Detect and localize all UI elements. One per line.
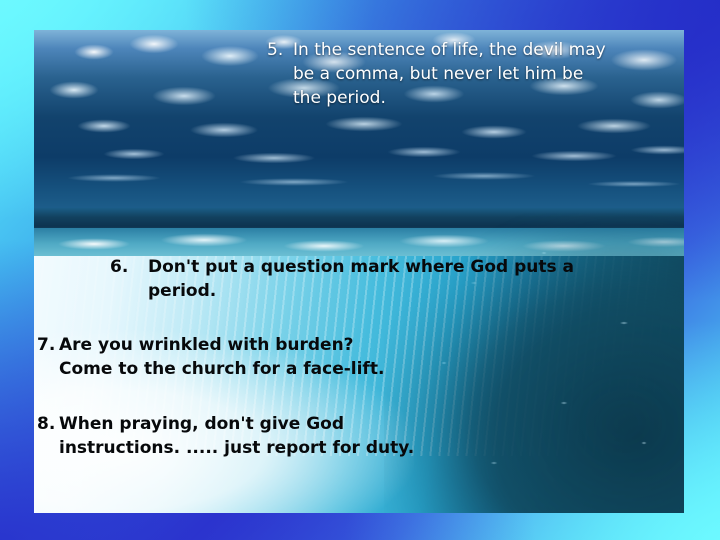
list-item-6: 6. Don't put a question mark where God p… bbox=[110, 255, 630, 303]
list-item-8-text: When praying, don't give God instruction… bbox=[59, 412, 414, 460]
list-item-6-text: Don't put a question mark where God puts… bbox=[148, 255, 574, 303]
list-item-5: 5. In the sentence of life, the devil ma… bbox=[267, 38, 671, 110]
list-item-5-text: In the sentence of life, the devil may b… bbox=[293, 38, 606, 110]
list-item-7-marker: 7. bbox=[37, 333, 59, 381]
list-item-6-marker: 6. bbox=[110, 255, 148, 303]
presentation-slide: 5. In the sentence of life, the devil ma… bbox=[0, 0, 720, 540]
list-item-7-text: Are you wrinkled with burden? Come to th… bbox=[59, 333, 384, 381]
list-item-7: 7. Are you wrinkled with burden? Come to… bbox=[37, 333, 457, 381]
list-item-5-marker: 5. bbox=[267, 38, 293, 110]
list-item-8-marker: 8. bbox=[37, 412, 59, 460]
list-item-8: 8. When praying, don't give God instruct… bbox=[37, 412, 467, 460]
slide-text-layer: 5. In the sentence of life, the devil ma… bbox=[0, 0, 720, 540]
